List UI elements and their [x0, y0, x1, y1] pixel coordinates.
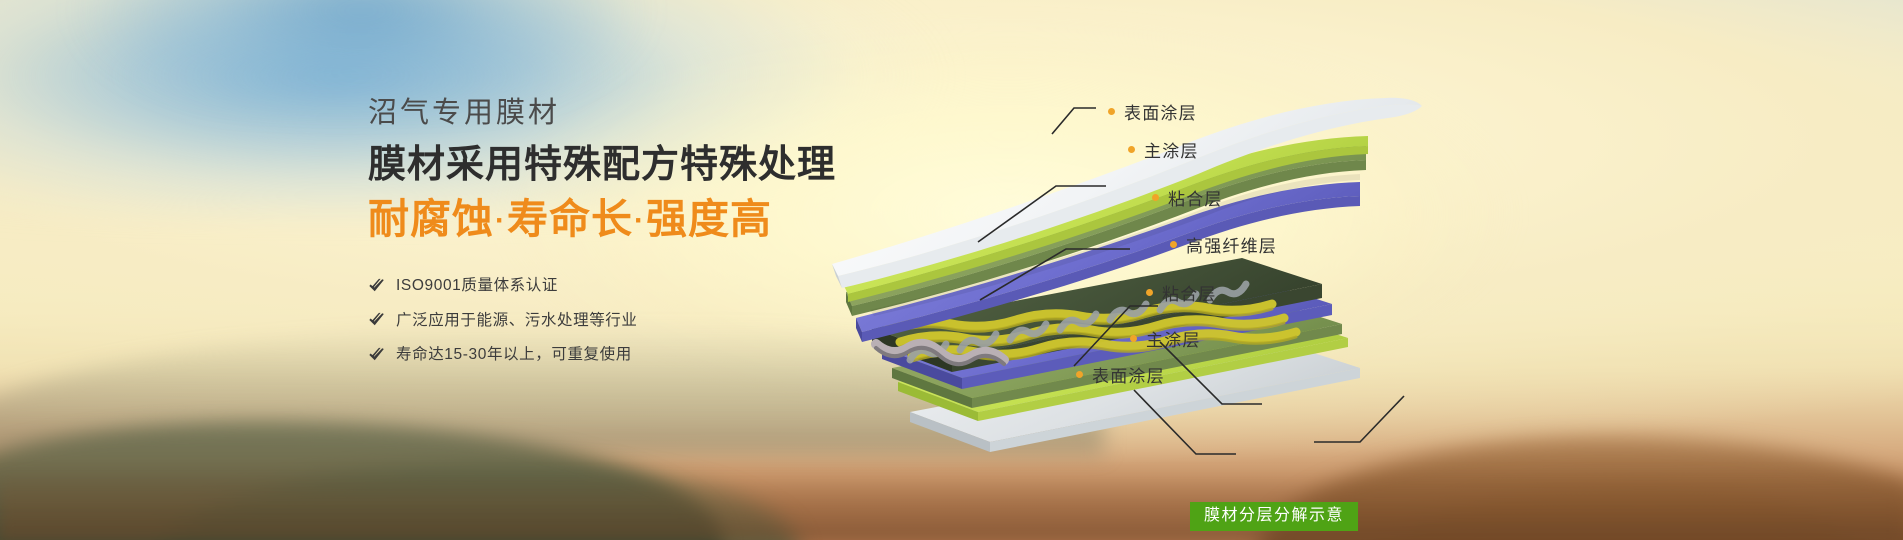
headline-separator-1: ·: [494, 204, 507, 237]
callout-label: 粘合层: [1162, 280, 1217, 305]
check-icon: [368, 312, 385, 329]
callout-dot-icon: [1146, 289, 1153, 296]
feature-label: ISO9001质量体系认证: [396, 277, 558, 296]
callout-label: 表面涂层: [1092, 362, 1165, 387]
callout-adhesive-top: 粘合层: [1152, 185, 1223, 210]
callout-label: 表面涂层: [1124, 99, 1197, 124]
membrane-layer-illustration: [660, 60, 1860, 530]
callout-dot-icon: [1170, 241, 1177, 248]
callout-dot-icon: [1108, 108, 1115, 115]
callout-dot-icon: [1152, 194, 1159, 201]
callout-surface-coating-top: 表面涂层: [1108, 99, 1197, 124]
callout-surface-coating-bottom: 表面涂层: [1076, 362, 1165, 387]
callout-dot-icon: [1130, 335, 1137, 342]
headline-sub-part-1: 耐腐蚀: [368, 196, 494, 242]
callout-label: 粘合层: [1168, 185, 1223, 210]
check-icon: [368, 278, 385, 295]
callout-adhesive-bottom: 粘合层: [1146, 280, 1217, 305]
feature-label: 广泛应用于能源、污水处理等行业: [396, 312, 638, 331]
callout-high-strength-fiber: 高强纤维层: [1170, 232, 1277, 257]
headline-sub-part-2: 寿命长: [507, 196, 633, 242]
callout-label: 主涂层: [1144, 137, 1199, 162]
check-icon: [368, 347, 385, 364]
callout-label: 高强纤维层: [1186, 232, 1277, 257]
callout-main-coating-top: 主涂层: [1128, 137, 1199, 162]
callout-label: 主涂层: [1146, 326, 1201, 351]
promo-banner: 沼气专用膜材 膜材采用特殊配方特殊处理 耐腐蚀·寿命长·强度高 ISO9001质…: [0, 0, 1903, 540]
callout-dot-icon: [1076, 371, 1083, 378]
callout-main-coating-bottom: 主涂层: [1130, 326, 1201, 351]
headline-separator-2: ·: [633, 204, 646, 237]
callout-dot-icon: [1128, 146, 1135, 153]
illustration-caption-tag: 膜材分层分解示意: [1190, 502, 1358, 531]
feature-label: 寿命达15-30年以上，可重复使用: [396, 346, 632, 365]
